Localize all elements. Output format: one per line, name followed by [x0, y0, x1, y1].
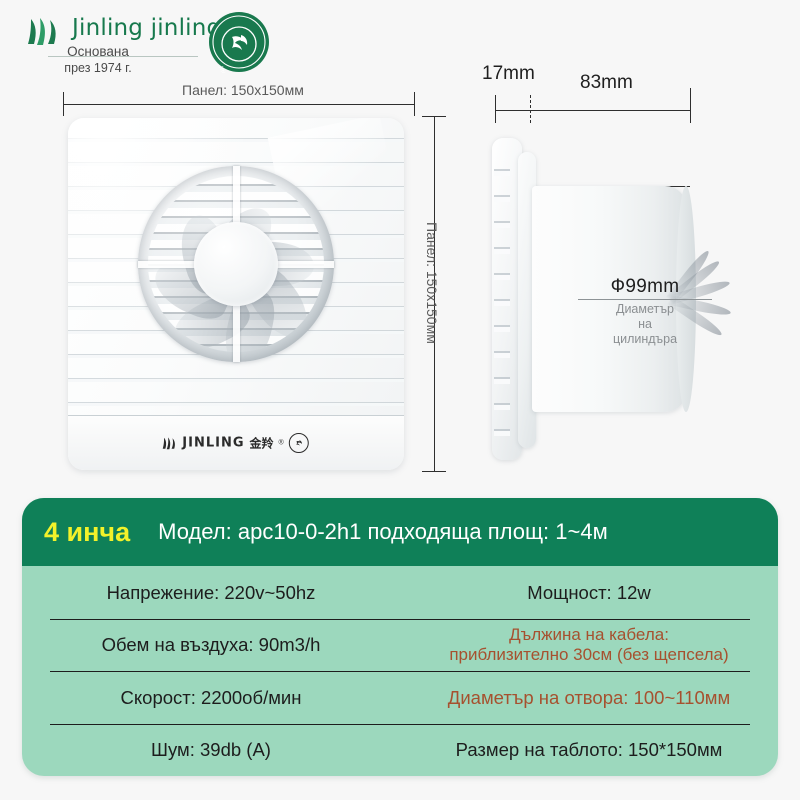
- brand-header: Jinling jinling Основана през 1974 г. 19…: [0, 0, 300, 78]
- front-top-dimension-line: [63, 104, 415, 105]
- spec-airflow: Обем на въздуха: 90m3/h: [22, 634, 400, 655]
- cylinder-diameter-rule: [578, 299, 712, 300]
- fan-front-view-image: JINLING 金羚 ®: [68, 118, 404, 470]
- flange-ribs: [494, 150, 510, 448]
- spec-table: Напрежение: 220v~50hz Мощност: 12w Обем …: [22, 566, 778, 776]
- front-right-tick-top: [422, 116, 446, 117]
- spec-hole-diameter: Диаметър на отвора: 100~110мм: [400, 687, 778, 708]
- spec-panel-size: Размер на таблото: 150*150мм: [400, 739, 778, 760]
- model-line: Модел: apc10-0-2h1 подходяща площ: 1~4м: [158, 519, 608, 545]
- badge-brand-text: JINLING: [182, 436, 244, 451]
- fan-grille: [138, 166, 334, 362]
- side-dim-17-label: 17mm: [482, 63, 535, 85]
- spec-cable-length-line1: Дължина на кабела:: [406, 625, 772, 645]
- jinling-flame-icon: [162, 436, 177, 450]
- spec-voltage: Напрежение: 220v~50hz: [22, 582, 400, 603]
- jinling-circular-seal-icon: [289, 433, 310, 454]
- cylinder-diameter-value: Ф99mm: [560, 276, 730, 298]
- specifications-card: 4 инча Модел: apc10-0-2h1 подходяща площ…: [22, 498, 778, 776]
- jinling-flame-icon: [27, 17, 61, 47]
- brand-name: Jinling jinling: [72, 15, 221, 41]
- cylinder-diameter-caption-3: цилиндъра: [560, 332, 730, 347]
- front-right-tick-bottom: [422, 471, 446, 472]
- side-tick-left: [495, 95, 496, 123]
- fan-hub: [194, 222, 278, 306]
- side-dash-divider: [530, 95, 531, 123]
- spec-cable-length: Дължина на кабела: приблизително 30см (б…: [400, 625, 778, 665]
- spec-noise: Шум: 39db (A): [22, 739, 400, 760]
- front-top-tick-left: [63, 92, 64, 116]
- spec-cable-length-line2: приблизително 30см (без щепсела): [406, 645, 772, 665]
- badge-brand-cn: 金羚: [250, 435, 274, 452]
- front-top-dimension-label: Панел: 150x150мм: [182, 82, 304, 98]
- side-top-dimension-line: [495, 110, 691, 111]
- front-badge-bar: JINLING 金羚 ®: [68, 415, 404, 470]
- brand-badge: JINLING 金羚 ®: [162, 433, 309, 454]
- table-row: Скорост: 2200об/мин Диаметър на отвора: …: [22, 671, 778, 724]
- cylinder-diameter-callout: Ф99mm Диаметър на цилиндъра: [560, 276, 730, 347]
- product-spec-sheet: Jinling jinling Основана през 1974 г. 19…: [0, 0, 800, 800]
- jinling-circular-seal-icon: 1974 JINGLINGLING: [208, 11, 270, 73]
- spec-header: 4 инча Модел: apc10-0-2h1 подходяща площ…: [22, 498, 778, 566]
- spec-power: Мощност: 12w: [400, 582, 778, 603]
- brand-founded-line1: Основана: [0, 44, 196, 59]
- front-top-tick-right: [414, 92, 415, 116]
- size-badge: 4 инча: [44, 517, 130, 548]
- table-divider: [50, 619, 750, 620]
- spec-speed: Скорост: 2200об/мин: [22, 687, 400, 708]
- front-right-dimension-label: Панел: 150x150мм: [424, 222, 440, 344]
- table-divider: [50, 671, 750, 672]
- table-divider: [50, 724, 750, 725]
- table-row: Обем на въздуха: 90m3/h Дължина на кабел…: [22, 619, 778, 672]
- cylinder-diameter-caption-1: Диаметър: [560, 302, 730, 317]
- side-tick-right: [690, 88, 691, 123]
- badge-registered-mark: ®: [279, 440, 284, 447]
- table-row: Шум: 39db (A) Размер на таблото: 150*150…: [22, 724, 778, 777]
- table-row: Напрежение: 220v~50hz Мощност: 12w: [22, 566, 778, 619]
- side-dim-83-label: 83mm: [580, 72, 633, 94]
- brand-founded-line2: през 1974 г.: [0, 61, 196, 75]
- cylinder-diameter-caption-2: на: [560, 317, 730, 332]
